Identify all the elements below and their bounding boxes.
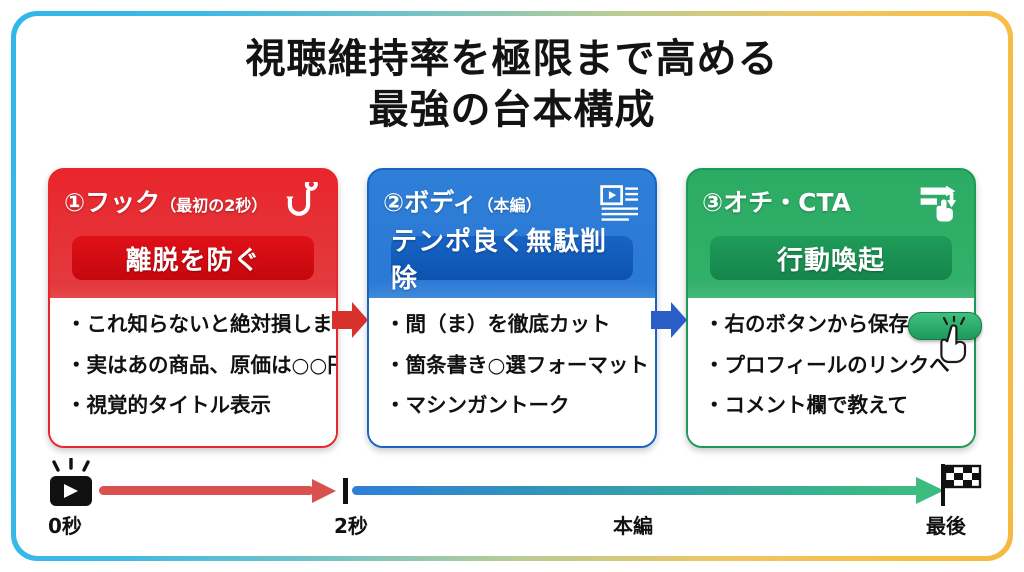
card-hook-heading: フック: [85, 188, 160, 217]
arrow-card2-to-card3: [649, 300, 689, 340]
page-title: 視聴維持率を極限まで高める 最強の台本構成: [0, 34, 1024, 136]
list-item: ・視覚的タイトル表示: [66, 395, 336, 416]
card-hook-number: ①: [64, 188, 85, 217]
card-hook-pill: 離脱を防ぐ: [72, 236, 314, 280]
card-cta-number: ③: [702, 188, 723, 217]
card-body-number: ②: [383, 188, 404, 217]
timeline-label-main: 本編: [613, 510, 653, 539]
card-body-body: ・間（ま）を徹底カット ・箇条書き○選フォーマット ・マシンガントーク: [369, 298, 655, 448]
timeline-label-end: 最後: [926, 510, 966, 539]
title-line-1: 視聴維持率を極限まで高める: [246, 36, 779, 82]
card-body-section[interactable]: ②ボディ（本編） テンポ良く無駄削除 ・間（ま）を徹底カット ・箇条書き○選フ: [367, 168, 657, 448]
hand-cursor-tap-icon: [938, 316, 984, 368]
checkered-flag-icon: [941, 464, 980, 506]
play-button-icon: [50, 459, 92, 506]
infographic-canvas: 視聴維持率を極限まで高める 最強の台本構成 ①フック（最初の2秒） 離脱を防ぐ …: [0, 0, 1024, 572]
card-cta[interactable]: ③オチ・CTA 行動喚起 ・右のボタンから保存 ・プロフィールのリンクへ ・コメ…: [686, 168, 976, 448]
fish-hook-icon: [276, 182, 322, 222]
video-article-icon: [595, 182, 641, 222]
card-hook-subheading: （最初の2秒）: [160, 196, 267, 215]
card-body-bullet-list: ・間（ま）を徹底カット ・箇条書き○選フォーマット ・マシンガントーク: [385, 314, 655, 416]
list-item: ・これ知らないと絶対損します: [66, 314, 336, 335]
tap-arrow-icon: [914, 182, 960, 222]
list-item: ・間（ま）を徹底カット: [385, 314, 655, 335]
arrow-card1-to-card2: [330, 300, 370, 340]
list-item: ・箇条書き○選フォーマット: [385, 355, 655, 376]
card-cta-pill: 行動喚起: [710, 236, 952, 280]
card-body-header: ②ボディ（本編） テンポ良く無駄削除: [369, 170, 655, 298]
list-item: ・実はあの商品、原価は○○円: [66, 355, 336, 376]
card-body-pill: テンポ良く無駄削除: [391, 236, 633, 280]
timeline-label-2sec: 2秒: [334, 510, 368, 539]
list-item: ・コメント欄で教えて: [704, 395, 974, 416]
timeline: [0, 458, 1024, 558]
card-cta-header-row: ③オチ・CTA: [702, 182, 960, 222]
timeline-label-0sec: 0秒: [48, 510, 82, 539]
timeline-segment-hook: [99, 486, 314, 495]
card-body-title: ②ボディ（本編）: [383, 190, 541, 215]
card-hook-title: ①フック（最初の2秒）: [64, 190, 267, 215]
card-cta-header: ③オチ・CTA 行動喚起: [688, 170, 974, 298]
card-body-heading: ボディ: [404, 188, 477, 217]
title-line-2: 最強の台本構成: [0, 85, 1024, 136]
list-item: ・マシンガントーク: [385, 395, 655, 416]
timeline-arrowhead-end: [916, 477, 944, 504]
card-cta-title: ③オチ・CTA: [702, 190, 851, 215]
card-hook-body: ・これ知らないと絶対損します ・実はあの商品、原価は○○円 ・視覚的タイトル表示: [50, 298, 336, 448]
timeline-arrowhead-hook: [312, 479, 336, 503]
timeline-tick-2sec: [343, 478, 348, 504]
card-hook-header-row: ①フック（最初の2秒）: [64, 182, 322, 222]
card-body-header-row: ②ボディ（本編）: [383, 182, 641, 222]
card-body-subheading: （本編）: [477, 196, 541, 215]
timeline-segment-body: [352, 486, 922, 495]
list-item: ・プロフィールのリンクへ: [704, 355, 974, 376]
card-cta-heading: オチ・CTA: [723, 188, 851, 217]
card-hook-header: ①フック（最初の2秒） 離脱を防ぐ: [50, 170, 336, 298]
card-hook-bullet-list: ・これ知らないと絶対損します ・実はあの商品、原価は○○円 ・視覚的タイトル表示: [66, 314, 336, 416]
card-hook[interactable]: ①フック（最初の2秒） 離脱を防ぐ ・これ知らないと絶対損します ・実はあの商品…: [48, 168, 338, 448]
